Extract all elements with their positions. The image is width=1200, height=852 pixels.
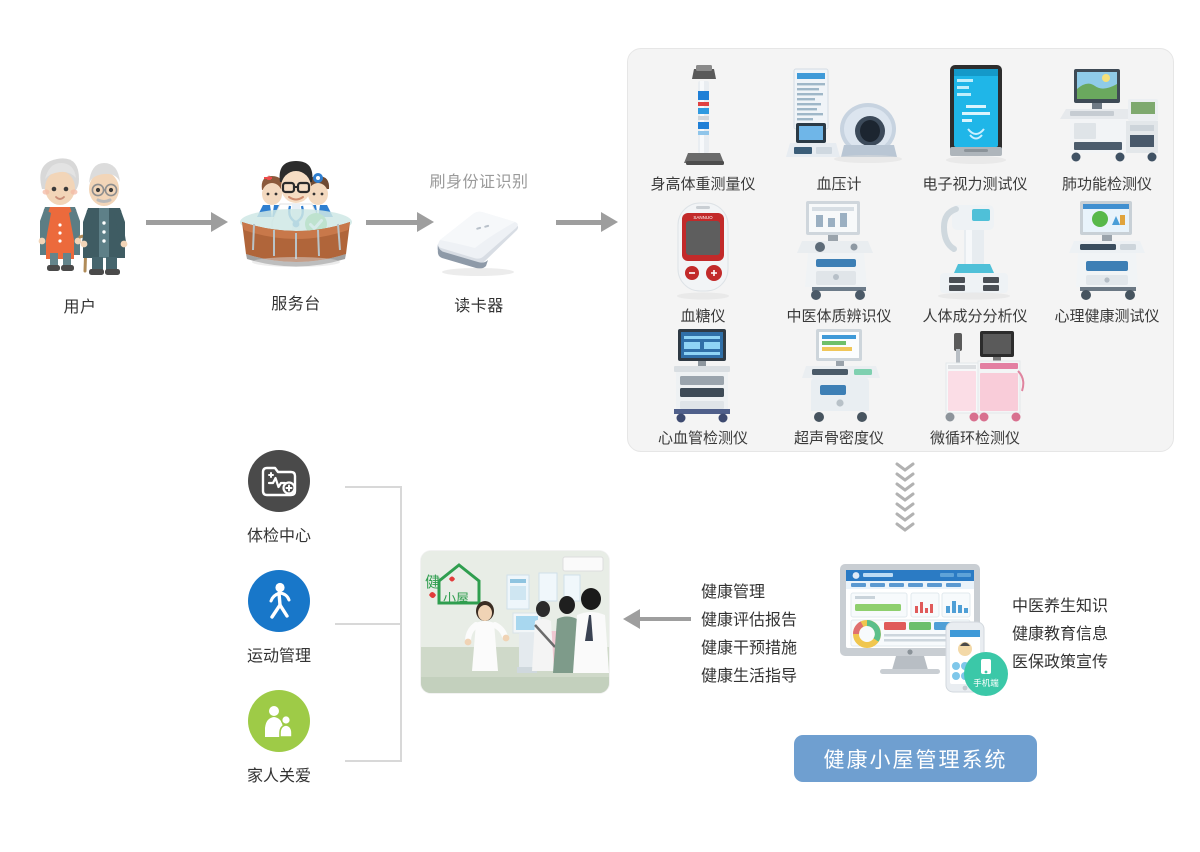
chevron-down-stack — [895, 462, 915, 532]
glucose-meter-icon: SANNUO — [636, 197, 770, 301]
flow-step-card-reader: 刷身份证识别 读卡器 — [410, 168, 548, 316]
svg-text:SANNUO: SANNUO — [693, 215, 713, 220]
body-composition-analyzer-icon — [908, 197, 1042, 301]
flow-step-user: 用户 — [20, 145, 140, 317]
device-label: 肺功能检测仪 — [1040, 173, 1174, 194]
family-care-icon — [248, 690, 310, 752]
cardiovascular-detector-icon — [636, 327, 770, 423]
device-item[interactable]: SANNUO 血糖仪 — [636, 197, 770, 326]
device-item[interactable]: 微循环检测仪 — [908, 327, 1042, 448]
height-weight-scale-icon — [636, 61, 770, 169]
walking-person-icon — [248, 570, 310, 632]
device-item[interactable]: 心理健康测试仪 — [1040, 197, 1174, 326]
chevron-down-icon — [895, 522, 915, 533]
card-reader-icon — [410, 200, 548, 280]
blood-pressure-monitor-icon — [772, 61, 906, 169]
output-list-right: 中医养生知识 健康教育信息 医保政策宣传 — [1012, 593, 1108, 677]
output-item: 中医养生知识 — [1012, 593, 1108, 621]
flow-step-label-card-reader: 读卡器 — [410, 292, 548, 316]
flow-arrow-3 — [556, 212, 618, 232]
output-list-left: 健康管理 健康评估报告 健康干预措施 健康生活指导 — [701, 579, 797, 691]
output-item: 健康教育信息 — [1012, 621, 1108, 649]
device-label: 超声骨密度仪 — [772, 427, 906, 448]
phone-badge-label: 手机端 — [973, 678, 999, 688]
svg-text:小屋: 小屋 — [443, 591, 469, 606]
device-label: 身高体重测量仪 — [636, 173, 770, 194]
diagram-canvas: 用户 — [0, 0, 1200, 852]
system-banner-label: 健康小屋管理系统 — [824, 744, 1008, 774]
category-exercise-management[interactable]: 运动管理 — [214, 570, 344, 666]
output-item: 医保政策宣传 — [1012, 649, 1108, 677]
microcirculation-detector-icon — [908, 327, 1042, 423]
mental-health-tester-icon — [1040, 197, 1174, 301]
category-health-check-center[interactable]: 体检中心 — [214, 450, 344, 546]
device-item[interactable]: 身高体重测量仪 — [636, 61, 770, 194]
device-item[interactable]: 超声骨密度仪 — [772, 327, 906, 448]
flow-step-service-desk: 服务台 — [232, 150, 360, 314]
flow-arrow-1 — [146, 212, 228, 232]
device-label: 微循环检测仪 — [908, 427, 1042, 448]
category-label: 运动管理 — [214, 642, 344, 666]
card-reader-caption: 刷身份证识别 — [410, 168, 548, 192]
device-label: 血糖仪 — [636, 305, 770, 326]
device-item[interactable]: 心血管检测仪 — [636, 327, 770, 448]
elderly-couple-icon — [20, 145, 140, 275]
device-label: 人体成分分析仪 — [908, 305, 1042, 326]
output-arrow-left — [623, 609, 691, 629]
reception-desk-icon — [232, 150, 360, 272]
svg-text:健: 健 — [425, 574, 440, 591]
bone-densitometer-icon — [772, 327, 906, 423]
category-family-care[interactable]: 家人关爱 — [214, 690, 344, 786]
lung-function-analyzer-icon — [1040, 61, 1174, 169]
device-label: 电子视力测试仪 — [908, 173, 1042, 194]
device-item[interactable]: 中医体质辨识仪 — [772, 197, 906, 326]
health-hut-room-photo: 健 小屋 — [421, 551, 609, 693]
flow-step-label-service-desk: 服务台 — [232, 290, 360, 314]
medical-record-folder-icon — [248, 450, 310, 512]
desktop-and-phone-icon: 手机端 — [834, 556, 1010, 706]
device-panel: 身高体重测量仪 — [627, 48, 1174, 452]
category-label: 家人关爱 — [214, 762, 344, 786]
device-item[interactable]: 电子视力测试仪 — [908, 61, 1042, 194]
device-item[interactable]: 血压计 — [772, 61, 906, 194]
device-item[interactable]: 人体成分分析仪 — [908, 197, 1042, 326]
device-label: 心理健康测试仪 — [1040, 305, 1174, 326]
output-item: 健康生活指导 — [701, 663, 797, 691]
device-label: 心血管检测仪 — [636, 427, 770, 448]
device-item[interactable]: 肺功能检测仪 — [1040, 61, 1174, 194]
bracket-connector — [345, 486, 409, 762]
output-item: 健康管理 — [701, 579, 797, 607]
electronic-vision-tester-icon — [908, 61, 1042, 169]
category-label: 体检中心 — [214, 522, 344, 546]
device-label: 血压计 — [772, 173, 906, 194]
system-banner[interactable]: 健康小屋管理系统 — [794, 735, 1037, 782]
flow-step-label-user: 用户 — [20, 293, 140, 317]
output-item: 健康评估报告 — [701, 607, 797, 635]
tcm-constitution-analyzer-icon — [772, 197, 906, 301]
device-label: 中医体质辨识仪 — [772, 305, 906, 326]
output-item: 健康干预措施 — [701, 635, 797, 663]
